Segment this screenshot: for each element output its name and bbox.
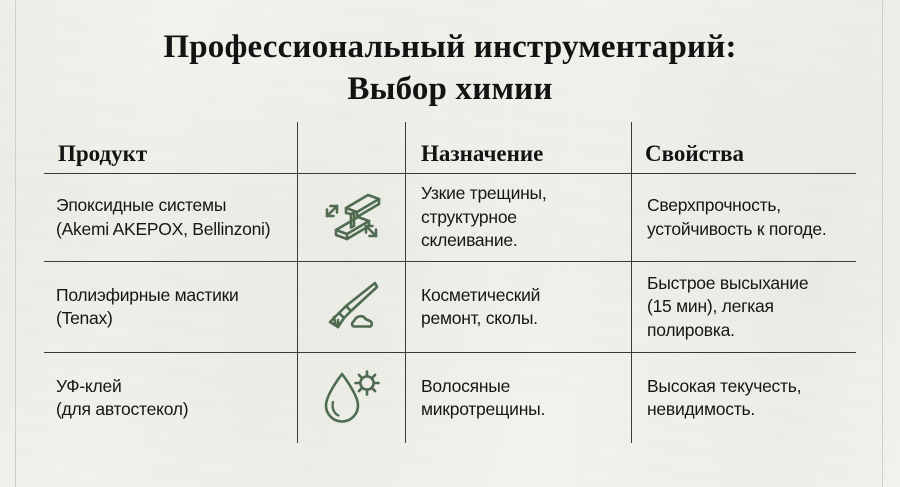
product-name-text: Эпоксидные системы (Akemi AKEPOX, Bellin… [56,194,270,241]
chemistry-selection-table: Продукт Назначение Свойства Эпоксидные с… [44,122,856,444]
cell-icon [297,262,405,352]
cell-properties: Быстрое высыхание (15 мин), легкая полир… [631,262,856,352]
cell-icon [297,353,405,443]
cell-product: Эпоксидные системы (Akemi AKEPOX, Bellin… [44,174,297,261]
table-row: Полиэфирные мастики (Tenax) [44,262,856,352]
paintbrush-icon [318,275,384,339]
properties-text: Высокая текучесть, невидимость. [647,375,801,422]
slide-page: Профессиональный инструментарий: Выбор х… [0,0,900,487]
properties-text: Быстрое высыхание (15 мин), легкая полир… [647,272,808,342]
cell-icon [297,174,405,261]
column-header-product: Продукт [44,122,297,173]
cell-product: УФ-клей (для автостекол) [44,353,297,443]
i-beam-expand-icon [318,186,384,250]
purpose-text: Узкие трещины, структурное склеивание. [421,182,546,252]
column-header-icon [297,122,405,173]
page-title: Профессиональный инструментарий: Выбор х… [0,26,900,110]
cell-purpose: Волосяные микротрещины. [405,353,631,443]
table-row: УФ-клей (для автостекол) [44,353,856,443]
product-name-text: УФ-клей (для автостекол) [56,375,188,422]
properties-text: Сверхпрочность, устойчивость к погоде. [647,194,826,241]
table-row: Эпоксидные системы (Akemi AKEPOX, Bellin… [44,174,856,261]
table-header-row: Продукт Назначение Свойства [44,122,856,173]
purpose-text: Косметический ремонт, сколы. [421,284,540,331]
column-header-properties: Свойства [631,122,856,173]
droplet-sun-icon [318,366,384,430]
cell-purpose: Узкие трещины, структурное склеивание. [405,174,631,261]
product-name-text: Полиэфирные мастики (Tenax) [56,284,239,331]
column-header-purpose: Назначение [405,122,631,173]
cell-properties: Сверхпрочность, устойчивость к погоде. [631,174,856,261]
cell-properties: Высокая текучесть, невидимость. [631,353,856,443]
cell-purpose: Косметический ремонт, сколы. [405,262,631,352]
cell-product: Полиэфирные мастики (Tenax) [44,262,297,352]
purpose-text: Волосяные микротрещины. [421,375,545,422]
